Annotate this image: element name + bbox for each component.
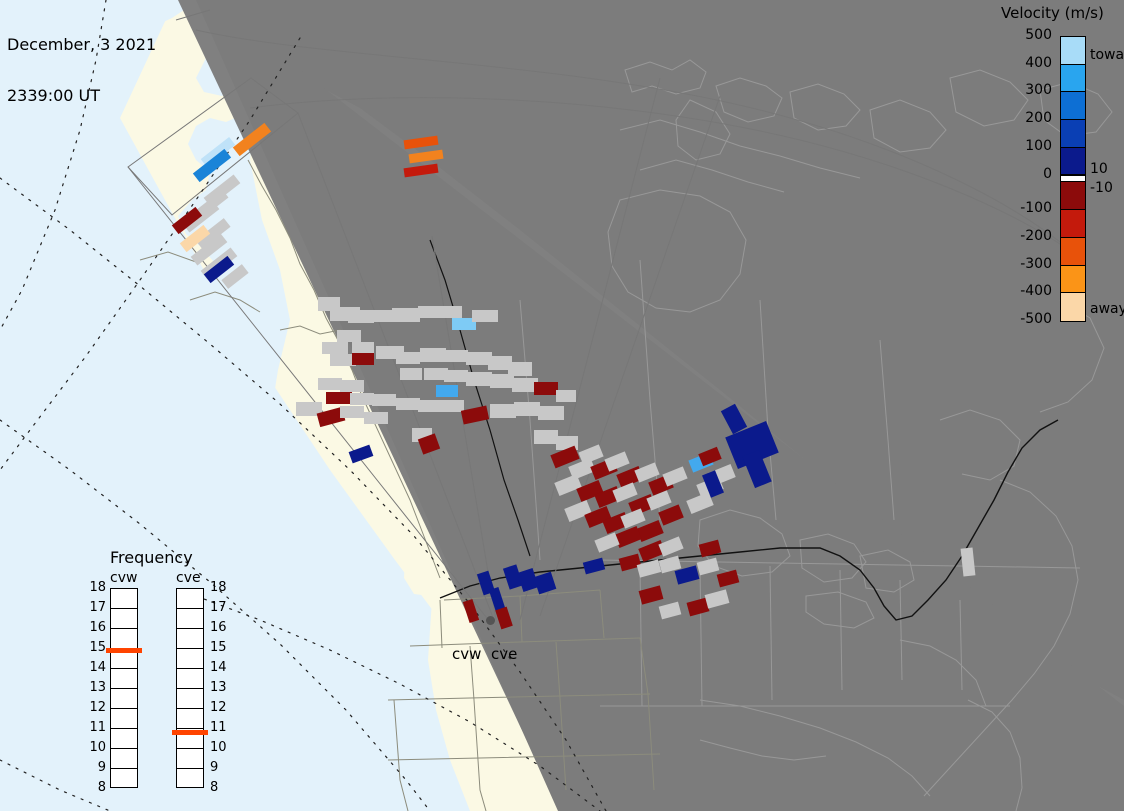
colorbar-segment (1061, 210, 1085, 238)
freq-tick-left: 9 (86, 760, 106, 775)
radar-cell (318, 378, 342, 390)
colorbar-segment (1061, 120, 1085, 148)
radar-cell (444, 350, 468, 362)
colorbar-tick: 200 (1000, 110, 1052, 126)
freq-tick-right: 11 (210, 720, 230, 735)
freq-tick-right: 16 (210, 620, 230, 635)
radar-cell (556, 390, 576, 402)
freq-cell (177, 769, 203, 789)
freq-cell (177, 649, 203, 669)
freq-tick-left: 10 (86, 740, 106, 755)
colorbar-zero-band (1061, 175, 1085, 182)
colorbar-tick: -100 (1000, 200, 1052, 216)
radar-cell (396, 398, 420, 410)
colorbar-tick: -200 (1000, 228, 1052, 244)
radar-cell (440, 306, 462, 318)
freq-tick-right: 10 (210, 740, 230, 755)
radar-cell (534, 430, 558, 444)
radar-cell (326, 392, 352, 404)
radar-cell (350, 393, 374, 405)
radar-cell (538, 406, 564, 420)
freq-cell (177, 609, 203, 629)
colorbar-away-label: away (1090, 301, 1124, 317)
radar-cell (490, 374, 514, 388)
colorbar-tick: -300 (1000, 256, 1052, 272)
radar-cell (340, 406, 364, 418)
colorbar-segment (1061, 182, 1085, 210)
colorbar-tick: 100 (1000, 138, 1052, 154)
freq-column-label-cvw: cvw (110, 570, 137, 586)
radar-cell (444, 370, 468, 382)
colorbar-tick: 0 (1000, 166, 1052, 182)
site-label-cvw: cvw (452, 645, 481, 663)
frequency-legend: Frequency cvw cve 18171615141312111098 1… (88, 548, 258, 788)
radar-cell (420, 348, 446, 362)
freq-tick-left: 11 (86, 720, 106, 735)
freq-cell (177, 629, 203, 649)
radar-cell (418, 400, 442, 412)
freq-cell (111, 589, 137, 609)
radar-map-screenshot: December, 3 2021 2339:00 UT Velocity (m/… (0, 0, 1124, 811)
radar-cell (490, 404, 516, 418)
radar-cell (466, 372, 492, 386)
colorbar-tick: -400 (1000, 283, 1052, 299)
colorbar-title: Velocity (m/s) (1001, 4, 1104, 22)
site-label-cve: cve (491, 645, 517, 663)
colorbar-toward-label: toward (1090, 47, 1124, 63)
freq-tick-left: 15 (86, 640, 106, 655)
freq-tick-left: 17 (86, 600, 106, 615)
freq-cell (111, 769, 137, 789)
freq-tick-right: 9 (210, 760, 230, 775)
freq-tick-left: 12 (86, 700, 106, 715)
freq-cell (177, 589, 203, 609)
colorbar-tick: -500 (1000, 311, 1052, 327)
freq-bar-cvw[interactable] (110, 588, 138, 788)
radar-cell (352, 353, 374, 365)
colorbar-segment (1061, 293, 1085, 321)
title-date: December, 3 2021 (7, 36, 156, 53)
freq-tick-left: 18 (86, 580, 106, 595)
radar-site-dot (486, 616, 495, 625)
freq-marker-cvw (106, 648, 142, 653)
freq-cell (111, 609, 137, 629)
freq-bar-cve[interactable] (176, 588, 204, 788)
colorbar-segment (1061, 37, 1085, 65)
freq-tick-right: 12 (210, 700, 230, 715)
colorbar-segment (1061, 238, 1085, 266)
freq-cell (111, 729, 137, 749)
freq-cell (177, 709, 203, 729)
freq-column-label-cve: cve (176, 570, 201, 586)
freq-tick-right: 13 (210, 680, 230, 695)
radar-cell (322, 342, 348, 354)
colorbar-segment (1061, 92, 1085, 120)
colorbar-tick: 400 (1000, 55, 1052, 71)
frequency-legend-title: Frequency (110, 548, 193, 567)
freq-cell (111, 629, 137, 649)
colorbar-segment (1061, 65, 1085, 93)
freq-tick-left: 8 (86, 780, 106, 795)
freq-tick-right: 15 (210, 640, 230, 655)
radar-cell (436, 385, 458, 397)
freq-cell (111, 669, 137, 689)
radar-cell (370, 310, 392, 322)
radar-cell (396, 352, 420, 364)
freq-cell (177, 749, 203, 769)
radar-cell (392, 308, 420, 322)
radar-cell (418, 306, 440, 318)
radar-cell (534, 382, 558, 395)
freq-tick-right: 18 (210, 580, 230, 595)
freq-tick-right: 14 (210, 660, 230, 675)
freq-tick-right: 8 (210, 780, 230, 795)
freq-tick-left: 13 (86, 680, 106, 695)
freq-cell (111, 709, 137, 729)
colorbar-segment (1061, 148, 1085, 176)
freq-tick-right: 17 (210, 600, 230, 615)
radar-cell (364, 412, 388, 424)
radar-cell (472, 310, 498, 322)
page-title: December, 3 2021 2339:00 UT (7, 2, 156, 138)
radar-cell (337, 330, 361, 342)
colorbar-tick: 500 (1000, 27, 1052, 43)
colorbar-inner-top-label: 10 (1090, 161, 1108, 177)
freq-tick-left: 16 (86, 620, 106, 635)
freq-cell (177, 669, 203, 689)
colorbar-inner-bottom-label: -10 (1090, 180, 1113, 196)
radar-cell (340, 380, 364, 392)
title-time: 2339:00 UT (7, 87, 156, 104)
velocity-colorbar[interactable] (1060, 36, 1086, 322)
freq-cell (177, 689, 203, 709)
freq-marker-cve (172, 730, 208, 735)
colorbar-segment (1061, 266, 1085, 294)
radar-cell (514, 402, 540, 416)
freq-cell (111, 749, 137, 769)
colorbar-tick: 300 (1000, 82, 1052, 98)
radar-cell (400, 368, 422, 380)
freq-tick-left: 14 (86, 660, 106, 675)
freq-cell (111, 689, 137, 709)
radar-cell (372, 394, 396, 406)
